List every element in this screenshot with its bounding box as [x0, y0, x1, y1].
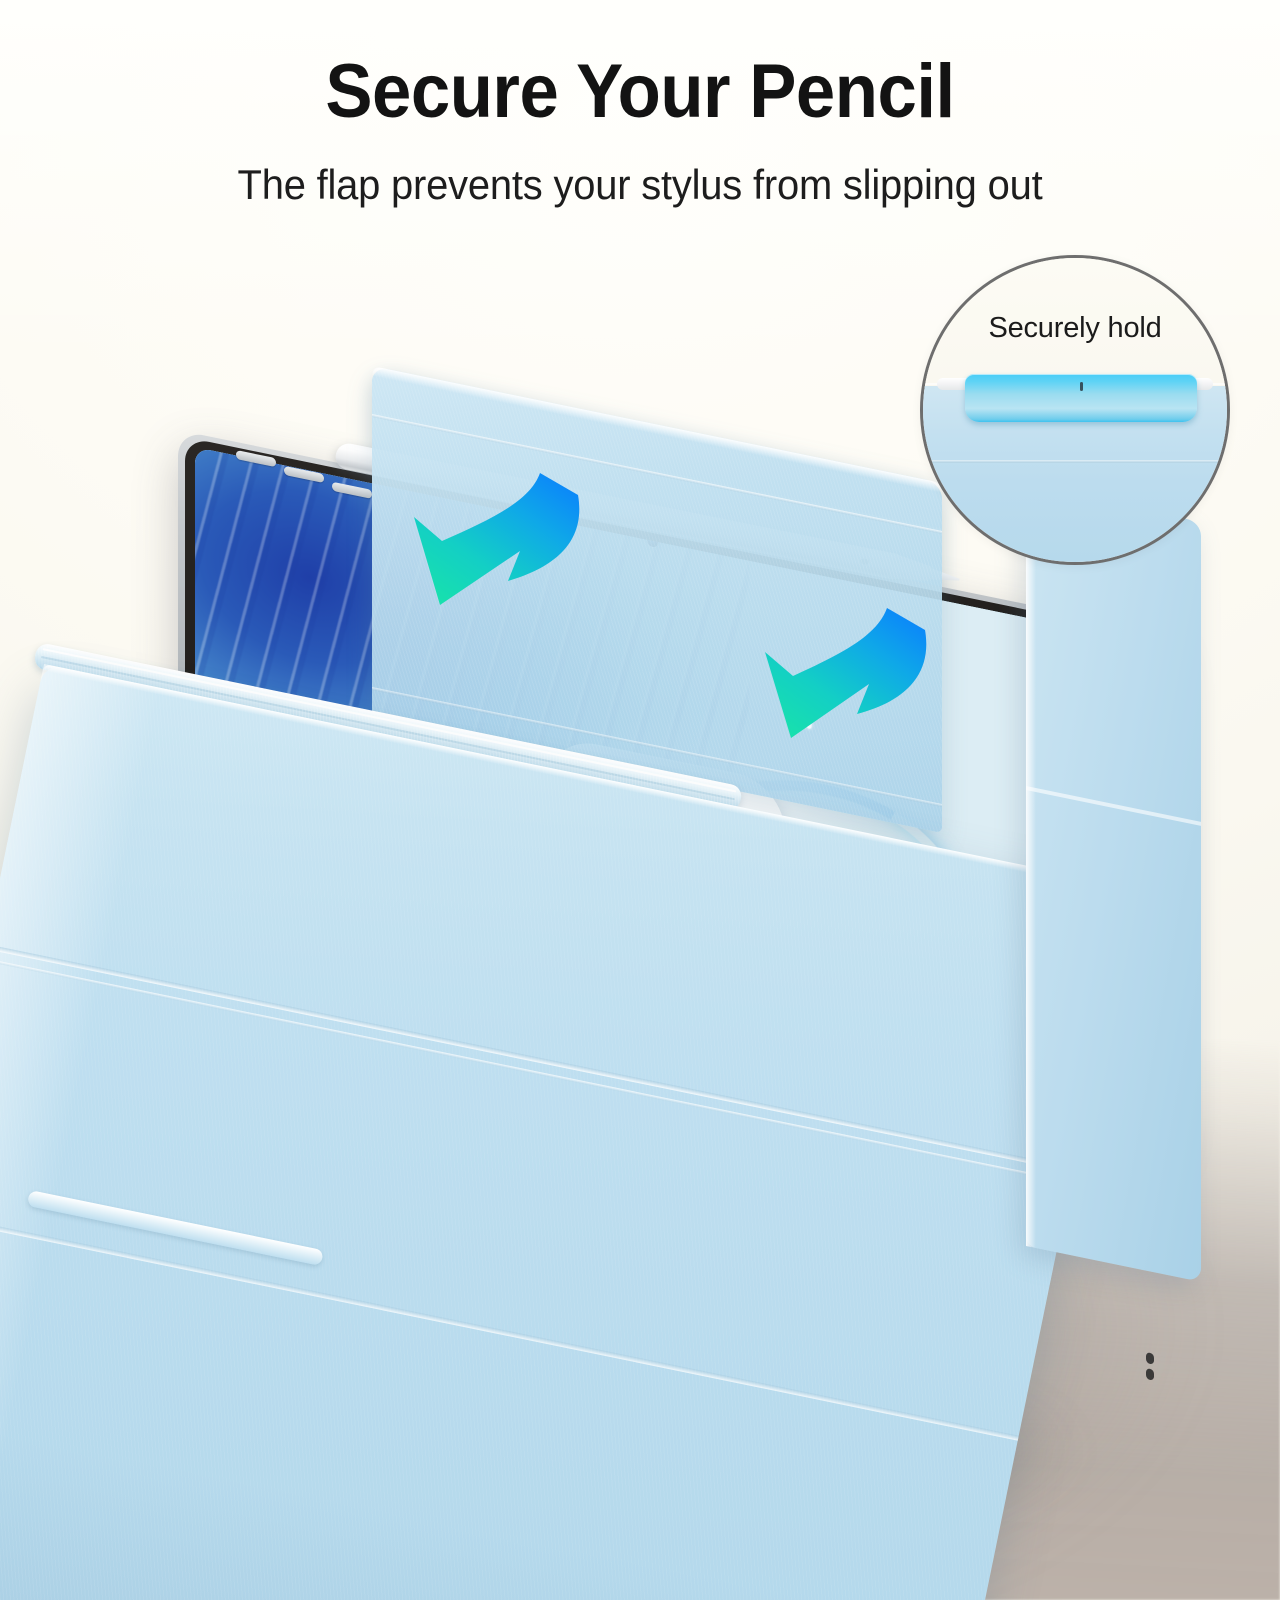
case-right-fold — [1026, 786, 1201, 826]
cover-texture — [0, 664, 1131, 1600]
page-subtitle: The flap prevents your stylus from slipp… — [32, 164, 1248, 206]
callout-label: Securely hold — [923, 312, 1227, 345]
headline-block: Secure Your Pencil The flap prevents you… — [0, 54, 1280, 206]
insert-arrow-right — [735, 592, 935, 747]
callout-flap-notch — [1080, 382, 1083, 391]
case-front-cover — [0, 560, 1180, 1600]
detail-callout-circle: Securely hold — [920, 255, 1230, 565]
case-right-flank — [1026, 486, 1201, 1282]
callout-flap — [965, 374, 1197, 422]
page-title: Secure Your Pencil — [45, 54, 1235, 130]
product-marketing-image: Secure Your Pencil The flap prevents you… — [0, 0, 1280, 1600]
case-cover-panel — [0, 664, 1131, 1600]
device-group: Apple Pencil 98% ⚡ — [0, 0, 1280, 1600]
case-right-highlight — [1026, 486, 1036, 1248]
insert-arrow-left — [380, 455, 590, 615]
